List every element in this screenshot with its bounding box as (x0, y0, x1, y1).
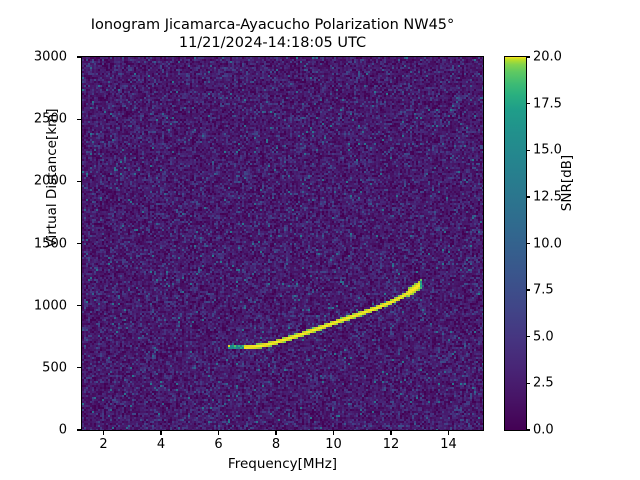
x-tick-mark (448, 431, 449, 435)
colorbar-tick-label: 20.0 (533, 50, 562, 65)
colorbar-tick-label: 7.5 (533, 283, 554, 298)
axis-spine-bottom (81, 430, 484, 431)
axis-spine-top (81, 56, 484, 57)
y-tick-mark (77, 429, 81, 430)
snr-heatmap-canvas (82, 57, 483, 430)
colorbar-tick-label: 0.0 (533, 423, 554, 438)
x-tick-mark (275, 431, 276, 435)
colorbar-tick-label: 5.0 (533, 329, 554, 344)
colorbar-tick-mark (526, 150, 530, 151)
x-tick-label: 8 (272, 437, 280, 452)
y-tick-label: 0 (59, 423, 67, 438)
x-axis-label: Frequency[MHz] (82, 456, 483, 472)
colorbar-tick-mark (526, 196, 530, 197)
x-tick-mark (333, 431, 334, 435)
colorbar-tick-label: 10.0 (533, 236, 562, 251)
colorbar-tick-label: 12.5 (533, 189, 562, 204)
x-tick-label: 10 (325, 437, 342, 452)
colorbar-tick-mark (526, 383, 530, 384)
colorbar-label: SNR[dB] (559, 113, 575, 253)
y-tick-mark (77, 181, 81, 182)
colorbar-tick-label: 17.5 (533, 96, 562, 111)
ionogram-plot-area (82, 57, 483, 430)
colorbar-tick-mark (526, 243, 530, 244)
colorbar-tick-mark (526, 56, 530, 57)
axis-spine-left (81, 56, 82, 431)
x-tick-label: 14 (440, 437, 457, 452)
x-tick-mark (103, 431, 104, 435)
x-tick-label: 2 (99, 437, 107, 452)
axis-spine-right (483, 56, 484, 431)
y-tick-mark (77, 367, 81, 368)
y-axis-label: Virtual Distance[km] (44, 48, 60, 308)
figure-title: Ionogram Jicamarca-Ayacucho Polarization… (0, 16, 545, 52)
colorbar-frame (504, 56, 526, 430)
colorbar-tick-mark (526, 103, 530, 104)
y-tick-mark (77, 305, 81, 306)
y-tick-label: 500 (42, 360, 67, 375)
y-tick-mark (77, 119, 81, 120)
x-tick-mark (218, 431, 219, 435)
colorbar-tick-mark (526, 289, 530, 290)
ionogram-figure: Ionogram Jicamarca-Ayacucho Polarization… (0, 0, 640, 480)
x-tick-mark (160, 431, 161, 435)
y-tick-mark (77, 56, 81, 57)
colorbar-tick-mark (526, 429, 530, 430)
x-tick-label: 4 (157, 437, 165, 452)
y-tick-mark (77, 243, 81, 244)
colorbar-tick-label: 2.5 (533, 376, 554, 391)
colorbar-tick-mark (526, 336, 530, 337)
x-tick-label: 12 (383, 437, 400, 452)
x-tick-label: 6 (214, 437, 222, 452)
colorbar-tick-label: 15.0 (533, 143, 562, 158)
x-tick-mark (390, 431, 391, 435)
